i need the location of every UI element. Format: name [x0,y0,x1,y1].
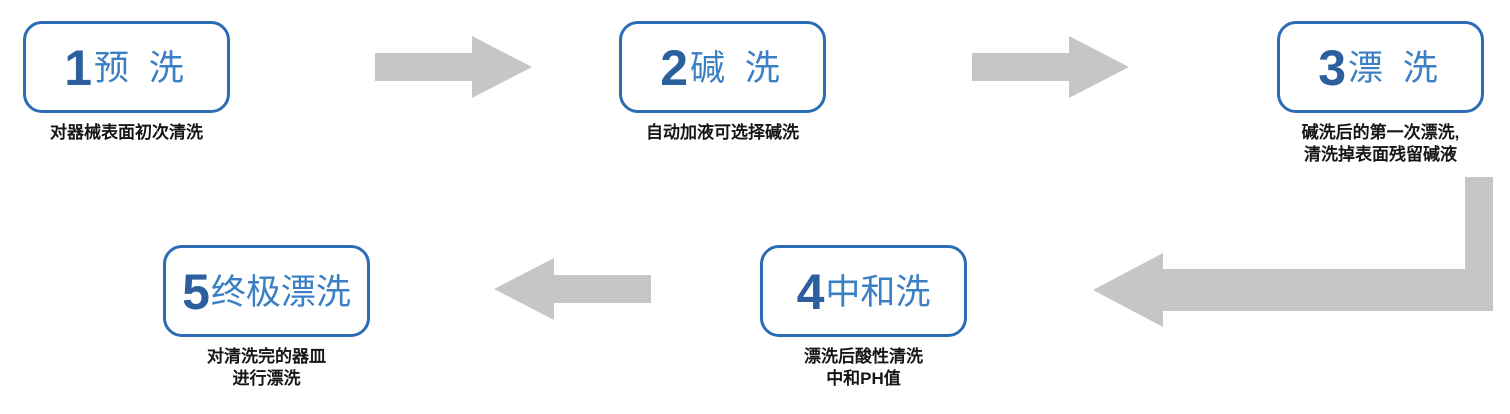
step-1-label: 预 洗 [91,51,189,86]
flow-step-3[interactable]: 3 漂 洗 碱洗后的第一次漂洗, 清洗掉表面残留碱液 [1277,21,1484,166]
step-4-label: 中和洗 [823,275,930,310]
step-3-number: 3 [1318,43,1345,93]
step-3-caption: 碱洗后的第一次漂洗, 清洗掉表面残留碱液 [1302,122,1460,166]
arrow-step2-to-step3 [972,36,1129,98]
step-5-box[interactable]: 5 终极漂洗 [163,245,370,337]
arrow-step1-to-step2 [375,36,532,98]
flow-step-1[interactable]: 1 预 洗 对器械表面初次清洗 [23,21,230,144]
step-4-box[interactable]: 4 中和洗 [760,245,967,337]
flow-step-2[interactable]: 2 碱 洗 自动加液可选择碱洗 [619,21,826,144]
step-2-label: 碱 洗 [687,51,785,86]
step-2-number: 2 [660,43,687,93]
step-4-number: 4 [797,267,824,317]
step-3-label: 漂 洗 [1345,51,1443,86]
step-2-box[interactable]: 2 碱 洗 [619,21,826,113]
flowchart-canvas: 1 预 洗 对器械表面初次清洗 2 碱 洗 自动加液可选择碱洗 3 漂 洗 碱洗… [0,0,1510,414]
step-3-box[interactable]: 3 漂 洗 [1277,21,1484,113]
flow-step-4[interactable]: 4 中和洗 漂洗后酸性清洗 中和PH值 [760,245,967,390]
step-1-box[interactable]: 1 预 洗 [23,21,230,113]
step-4-caption: 漂洗后酸性清洗 中和PH值 [804,346,923,390]
arrow-step3-to-step4 [1093,177,1493,327]
arrow-step4-to-step5 [494,258,651,320]
step-1-number: 1 [64,43,91,93]
step-5-label: 终极漂洗 [209,275,351,310]
step-1-caption: 对器械表面初次清洗 [50,122,203,144]
step-2-caption: 自动加液可选择碱洗 [646,122,799,144]
step-5-number: 5 [182,267,209,317]
flow-step-5[interactable]: 5 终极漂洗 对清洗完的器皿 进行漂洗 [163,245,370,390]
step-5-caption: 对清洗完的器皿 进行漂洗 [207,346,326,390]
